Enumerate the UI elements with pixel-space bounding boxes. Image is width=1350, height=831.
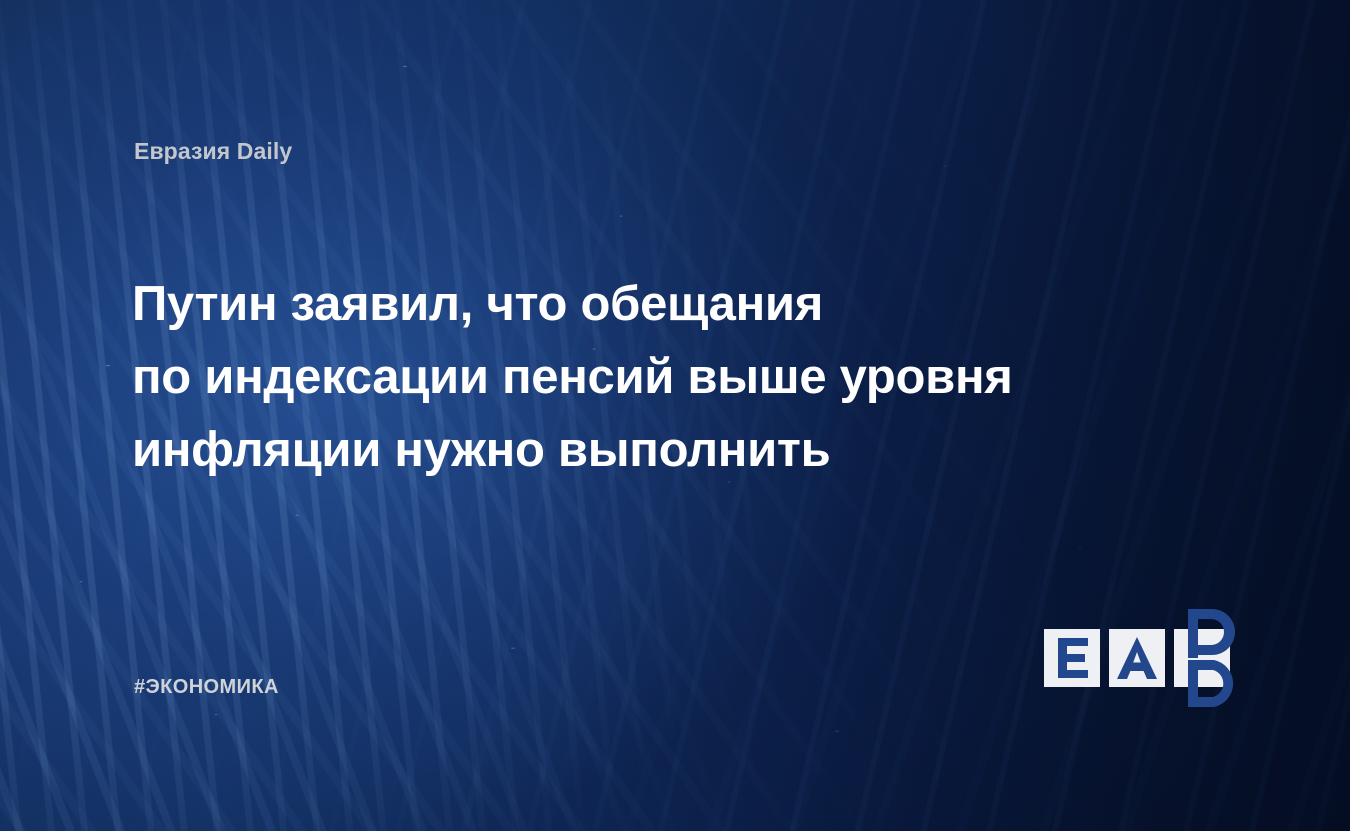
page-title: Путин заявил, что обещания по индексации… xyxy=(132,268,1132,487)
category-hashtag[interactable]: #ЭКОНОМИКА xyxy=(134,676,279,699)
headline-line-1: Путин заявил, что обещания xyxy=(132,268,1132,341)
logo-tile-e xyxy=(1044,629,1100,687)
brand-wordmark: Евразия Daily xyxy=(134,138,292,165)
headline-line-2: по индексации пенсий выше уровня xyxy=(132,341,1132,414)
news-card: Евразия Daily Путин заявил, что обещания… xyxy=(0,0,1350,831)
logo-tile-a xyxy=(1109,629,1165,687)
ead-logo xyxy=(1044,629,1230,687)
logo-letter-d-mark xyxy=(1174,607,1264,709)
headline-line-3: инфляции нужно выполнить xyxy=(132,414,1132,487)
